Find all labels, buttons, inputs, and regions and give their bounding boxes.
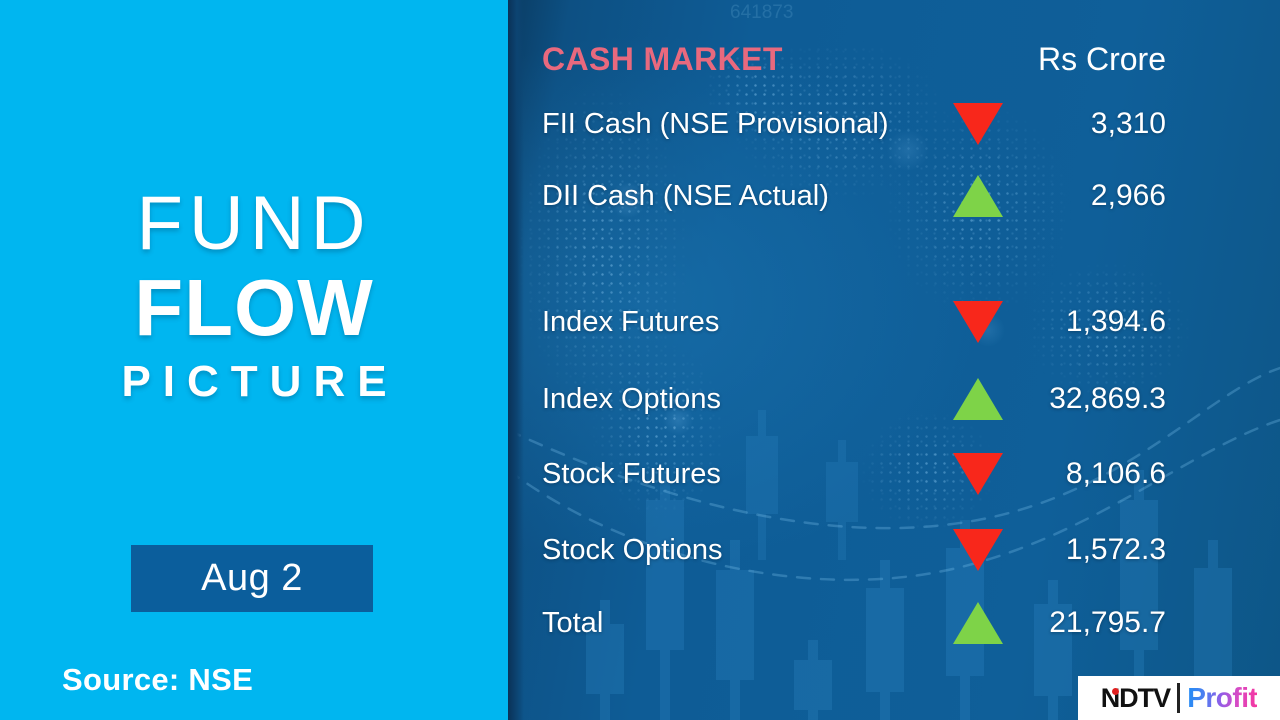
logo-ndtv-text: NDTV — [1101, 683, 1171, 714]
logo-profit-text: Profit — [1187, 682, 1257, 714]
row-label: Total — [542, 607, 603, 640]
table-row: DII Cash (NSE Actual) 2,966 — [508, 174, 1280, 218]
row-label: Index Futures — [542, 306, 719, 339]
row-label: Stock Options — [542, 534, 723, 567]
title-line-picture: PICTURE — [0, 360, 508, 404]
title-panel: FUND FLOW PICTURE Aug 2 Source: NSE — [0, 0, 508, 720]
row-value: 1,394.6 — [1018, 305, 1166, 339]
arrow-down-icon — [954, 102, 1002, 146]
table-row: Index Futures 1,394.6 — [508, 300, 1280, 344]
arrow-down-icon — [954, 528, 1002, 572]
table-row: Index Options 32,869.3 — [508, 377, 1280, 421]
arrow-up-icon — [954, 601, 1002, 645]
data-table: CASH MARKET Rs Crore FII Cash (NSE Provi… — [508, 0, 1280, 720]
arrow-down-icon — [954, 300, 1002, 344]
ndtv-profit-logo: NDTV Profit — [1078, 676, 1280, 720]
row-value: 21,795.7 — [1018, 606, 1166, 640]
arrow-up-icon — [954, 174, 1002, 218]
fund-flow-picture-graphic: 641873 CASH MARKET Rs Crore FII Cash (NS… — [0, 0, 1280, 720]
title-line-fund: FUND — [0, 186, 508, 262]
table-row: Stock Options 1,572.3 — [508, 528, 1280, 572]
row-label: Stock Futures — [542, 458, 721, 491]
table-row: FII Cash (NSE Provisional) 3,310 — [508, 102, 1280, 146]
table-row: Stock Futures 8,106.6 — [508, 452, 1280, 496]
row-label: DII Cash (NSE Actual) — [542, 180, 829, 213]
date-badge-label: Aug 2 — [201, 557, 303, 600]
row-value: 8,106.6 — [1018, 457, 1166, 491]
logo-red-dot-icon — [1112, 688, 1119, 695]
data-panel: 641873 CASH MARKET Rs Crore FII Cash (NS… — [508, 0, 1280, 720]
arrow-up-icon — [954, 377, 1002, 421]
date-badge: Aug 2 — [131, 545, 373, 612]
row-label: Index Options — [542, 383, 721, 416]
table-row-total: Total 21,795.7 — [508, 601, 1280, 645]
unit-label: Rs Crore — [1018, 41, 1166, 78]
section-title: CASH MARKET — [542, 41, 783, 78]
row-label: FII Cash (NSE Provisional) — [542, 108, 889, 141]
logo-divider — [1177, 683, 1180, 713]
row-value: 32,869.3 — [1018, 382, 1166, 416]
arrow-down-icon — [954, 452, 1002, 496]
title-line-flow: FLOW — [0, 268, 508, 348]
row-value: 2,966 — [1018, 179, 1166, 213]
source-label: Source: NSE — [62, 662, 253, 698]
row-value: 3,310 — [1018, 107, 1166, 141]
row-value: 1,572.3 — [1018, 533, 1166, 567]
page-title: FUND FLOW PICTURE — [0, 186, 508, 404]
